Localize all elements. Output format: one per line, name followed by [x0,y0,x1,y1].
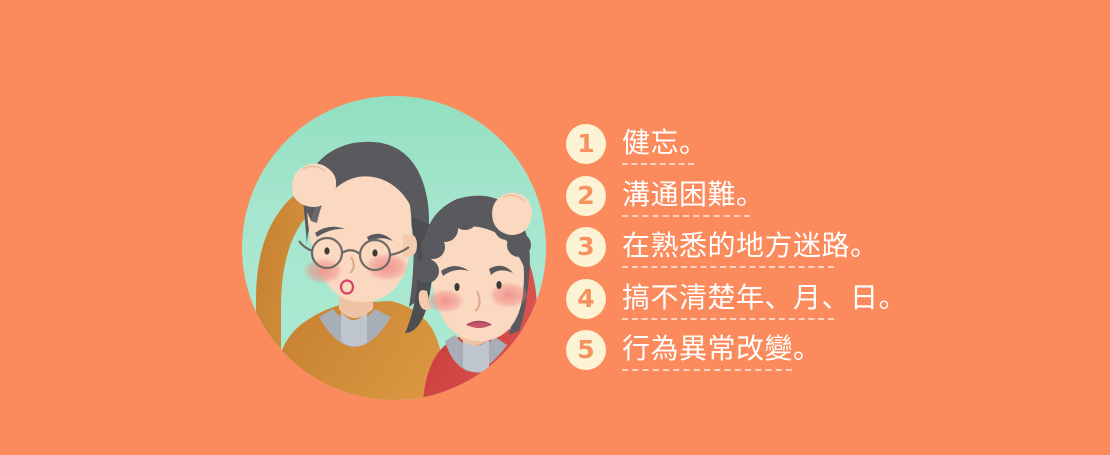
list-item-label: 健忘。 [622,125,708,161]
list-item-dashed-rule [622,369,792,371]
list-item-number-badge: 2 [566,176,606,216]
list-item-dashed-rule [622,266,834,268]
list-item-label: 搞不清楚年、月、日。 [622,280,907,316]
list-item-label: 行為異常改變。 [622,331,822,367]
list-item-dashed-rule [622,318,834,320]
list-item: 1 健忘。 [566,124,986,176]
list-item-content: 搞不清楚年、月、日。 [622,279,907,320]
elderly-couple-confused-illustration [241,95,547,401]
list-item-number-badge: 5 [566,330,606,370]
elderly-woman-figure [415,193,539,401]
list-item-number-badge: 3 [566,227,606,267]
list-item-number-badge: 4 [566,279,606,319]
list-item-dashed-rule [622,215,750,217]
list-item-dashed-rule [622,163,694,165]
list-item-number-badge: 1 [566,124,606,164]
list-item-content: 健忘。 [622,124,708,165]
list-item-content: 在熟悉的地方迷路。 [622,227,879,268]
list-item-label: 在熟悉的地方迷路。 [622,228,879,264]
list-item: 2 溝通困難。 [566,176,986,228]
list-item: 4 搞不清楚年、月、日。 [566,279,986,331]
list-item: 5 行為異常改變。 [566,330,986,382]
poster-canvas: 1 健忘。 2 溝通困難。 3 在熟悉的地方迷路。 4 搞不清楚年、月、日。 [0,0,1110,455]
list-item-content: 行為異常改變。 [622,330,822,371]
list-item-content: 溝通困難。 [622,176,765,217]
symptom-list: 1 健忘。 2 溝通困難。 3 在熟悉的地方迷路。 4 搞不清楚年、月、日。 [566,124,986,382]
list-item-label: 溝通困難。 [622,177,765,213]
list-item: 3 在熟悉的地方迷路。 [566,227,986,279]
